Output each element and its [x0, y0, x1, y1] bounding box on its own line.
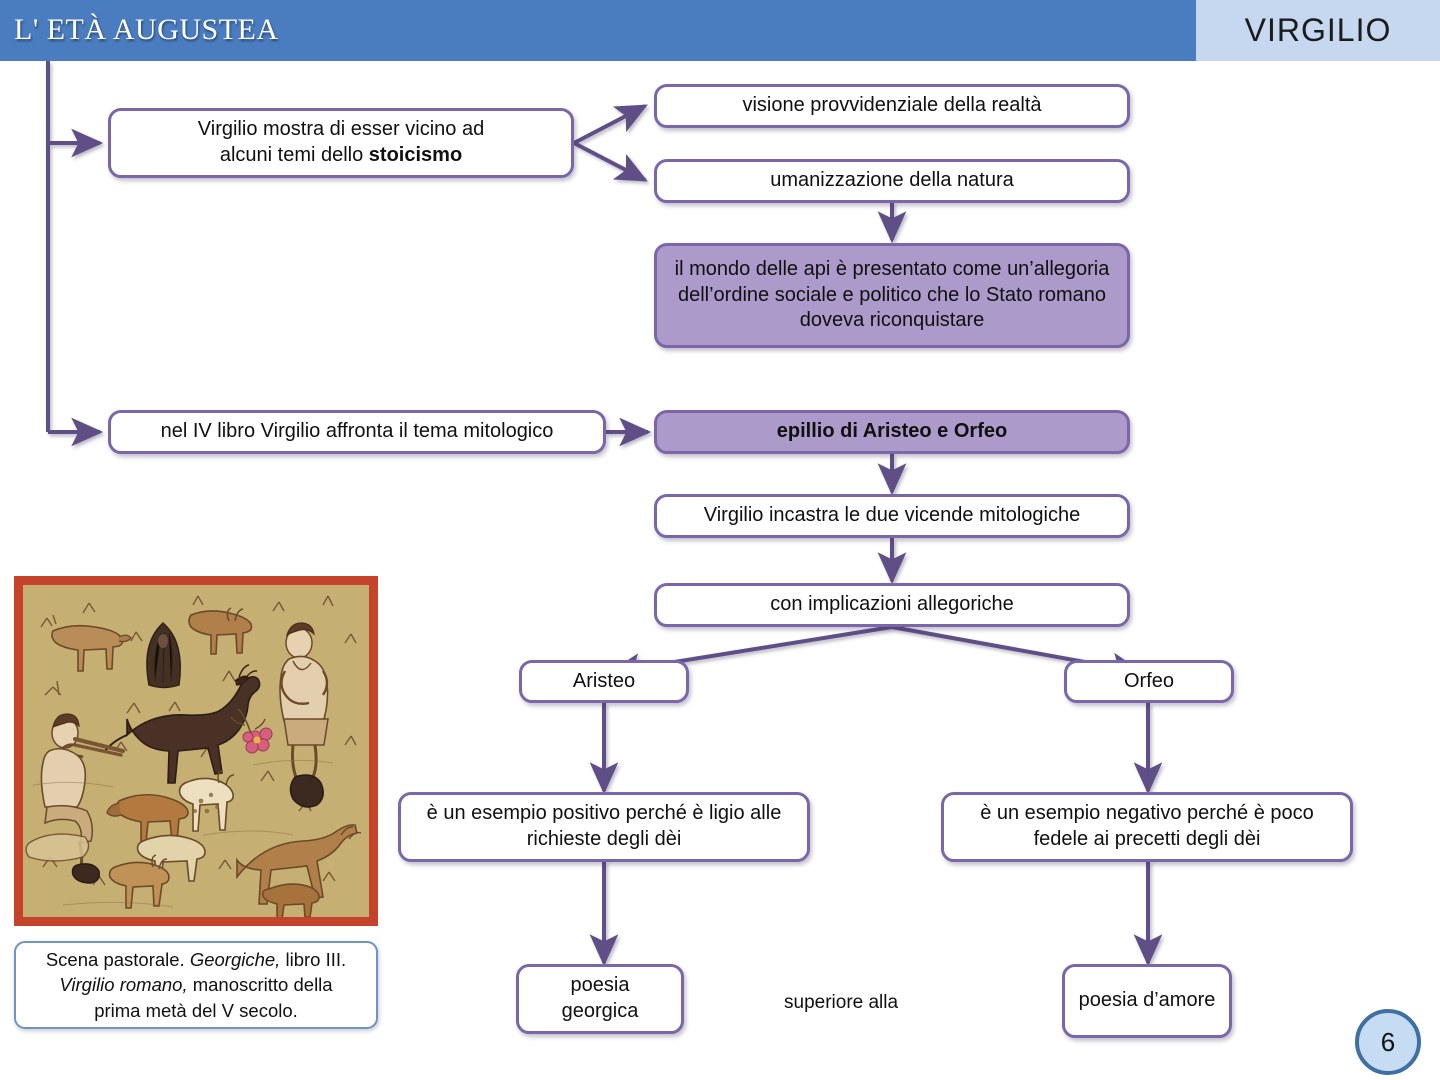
node-stoicismo-text: Virgilio mostra di esser vicino ad alcun… [198, 117, 484, 168]
node-umanizzazione-natura[interactable]: umanizzazione della natura [654, 159, 1130, 203]
caption-line1-b: libro III. [280, 949, 346, 970]
caption-line1-a: Scena pastorale. [46, 949, 190, 970]
node-epillio[interactable]: epillio di Aristeo e Orfeo [654, 410, 1130, 454]
caption-line2-plain: manoscritto della [188, 974, 333, 995]
node-orfeo-descrizione[interactable]: è un esempio negativo perché è poco fede… [941, 792, 1353, 862]
node-stoicismo-line2-plain: alcuni temi dello [220, 144, 369, 166]
caption-line2-italic: Virgilio romano, [59, 974, 187, 995]
manuscript-illustration-art [23, 585, 369, 917]
node-poesia-georgica[interactable]: poesia georgica [516, 964, 684, 1034]
page-number-badge: 6 [1355, 1009, 1421, 1075]
node-incastra-vicende[interactable]: Virgilio incastra le due vicende mitolog… [654, 494, 1130, 538]
node-poesia-amore[interactable]: poesia d’amore [1062, 964, 1232, 1038]
node-stoicismo-line1: Virgilio mostra di esser vicino ad [198, 118, 484, 140]
manuscript-illustration [14, 576, 378, 926]
header-subject: VIRGILIO [1196, 0, 1440, 61]
node-allegoria-api[interactable]: il mondo delle api è presentato come un’… [654, 243, 1130, 348]
node-stoicismo-keyword: stoicismo [369, 144, 462, 166]
image-caption: Scena pastorale. Georgiche, libro III. V… [14, 941, 378, 1029]
page-title: L' ETÀ AUGUSTEA [14, 13, 279, 47]
node-visione-provvidenziale[interactable]: visione provvidenziale della realtà [654, 84, 1130, 128]
node-stoicismo[interactable]: Virgilio mostra di esser vicino ad alcun… [108, 108, 574, 178]
node-orfeo[interactable]: Orfeo [1064, 660, 1234, 703]
caption-line1-italic: Georgiche, [190, 949, 281, 970]
caption-line3: prima metà del V secolo. [94, 1000, 298, 1021]
node-implicazioni-allegoriche[interactable]: con implicazioni allegoriche [654, 583, 1130, 627]
node-aristeo-descrizione[interactable]: è un esempio positivo perché è ligio all… [398, 792, 810, 862]
node-quarto-libro[interactable]: nel IV libro Virgilio affronta il tema m… [108, 410, 606, 454]
image-caption-text: Scena pastorale. Georgiche, libro III. V… [46, 947, 346, 1022]
label-superiore-alla: superiore alla [784, 992, 898, 1014]
slide: L' ETÀ AUGUSTEA VIRGILIO [0, 0, 1440, 1080]
node-aristeo[interactable]: Aristeo [519, 660, 689, 703]
